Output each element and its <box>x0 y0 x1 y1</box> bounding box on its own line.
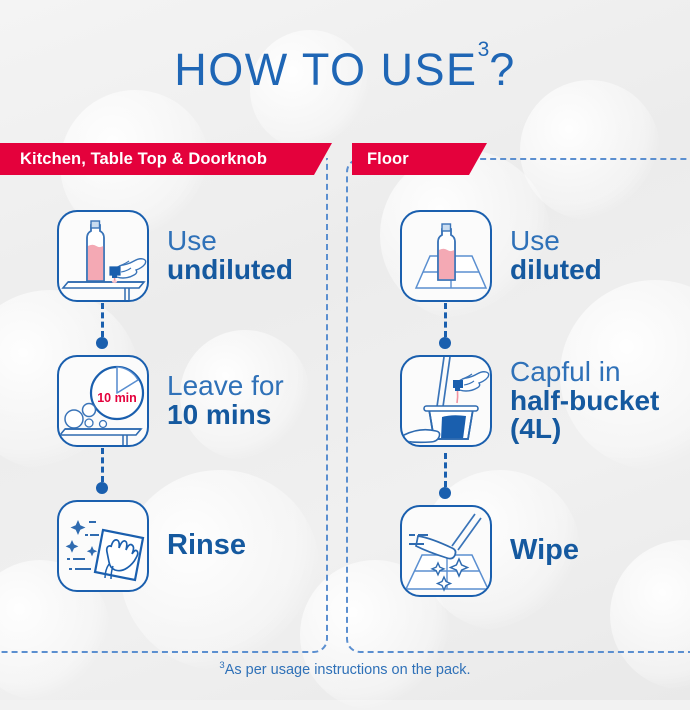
timer-value-text: 10 min <box>97 391 137 405</box>
step-label-floor-3: Wipe <box>510 536 579 566</box>
mop-floor-sparkle-icon <box>402 507 492 597</box>
page-title-suffix: ? <box>489 44 516 95</box>
step-label-floor-2: Capful in half-bucket (4L) <box>510 358 659 444</box>
step-line1: Capful in <box>510 358 659 387</box>
icon-card-mop-floor-sparkle <box>400 505 492 597</box>
step-label-kitchen-3: Rinse <box>167 531 246 561</box>
icon-card-hand-cloth-sparkle <box>57 500 149 592</box>
connector-left-2 <box>101 448 104 482</box>
step-floor-1: Use diluted <box>400 210 602 302</box>
connector-dot-left-2 <box>96 482 108 494</box>
step-kitchen-1: Use undiluted <box>57 210 293 302</box>
footnote: 3As per usage instructions on the pack. <box>0 660 690 678</box>
step-label-floor-1: Use diluted <box>510 227 602 284</box>
icon-card-bottle-hand-table <box>57 210 149 302</box>
mop-bucket-capful-icon <box>402 357 492 447</box>
page-title-text: HOW TO USE <box>174 44 477 95</box>
banner-floor: Floor <box>352 143 487 175</box>
step-line2: Wipe <box>510 536 579 566</box>
step-kitchen-2: 10 min Leave for 10 mins <box>57 355 284 447</box>
step-label-kitchen-1: Use undiluted <box>167 227 293 284</box>
connector-dot-right-1 <box>439 337 451 349</box>
banner-kitchen: Kitchen, Table Top & Doorknob <box>0 143 332 175</box>
step-floor-3: Wipe <box>400 505 579 597</box>
step-line2: 10 mins <box>167 401 284 430</box>
bottle-on-floor-icon <box>402 212 492 302</box>
icon-card-timer-bubbles-table: 10 min <box>57 355 149 447</box>
connector-dot-right-2 <box>439 487 451 499</box>
footnote-text: As per usage instructions on the pack. <box>225 662 471 678</box>
step-line1: Leave for <box>167 372 284 401</box>
step-line1: Use <box>510 227 602 256</box>
bottle-hand-table-icon <box>59 212 149 302</box>
step-line2: diluted <box>510 256 602 285</box>
step-line2: Rinse <box>167 531 246 561</box>
step-label-kitchen-2: Leave for 10 mins <box>167 372 284 429</box>
page-title-superscript: 3 <box>478 38 490 61</box>
timer-bubbles-table-icon: 10 min <box>59 357 149 447</box>
step-floor-2: Capful in half-bucket (4L) <box>400 355 659 447</box>
page-title: HOW TO USE3? <box>0 44 690 96</box>
connector-right-1 <box>444 303 447 337</box>
step-kitchen-3: Rinse <box>57 500 246 592</box>
connector-dot-left-1 <box>96 337 108 349</box>
step-line3: (4L) <box>510 415 659 444</box>
connector-left-1 <box>101 303 104 337</box>
connector-right-2 <box>444 453 447 487</box>
icon-card-bottle-on-floor <box>400 210 492 302</box>
icon-card-mop-bucket-capful <box>400 355 492 447</box>
step-line2: half-bucket <box>510 387 659 416</box>
step-line2: undiluted <box>167 256 293 285</box>
hand-cloth-sparkle-icon <box>59 502 149 592</box>
step-line1: Use <box>167 227 293 256</box>
